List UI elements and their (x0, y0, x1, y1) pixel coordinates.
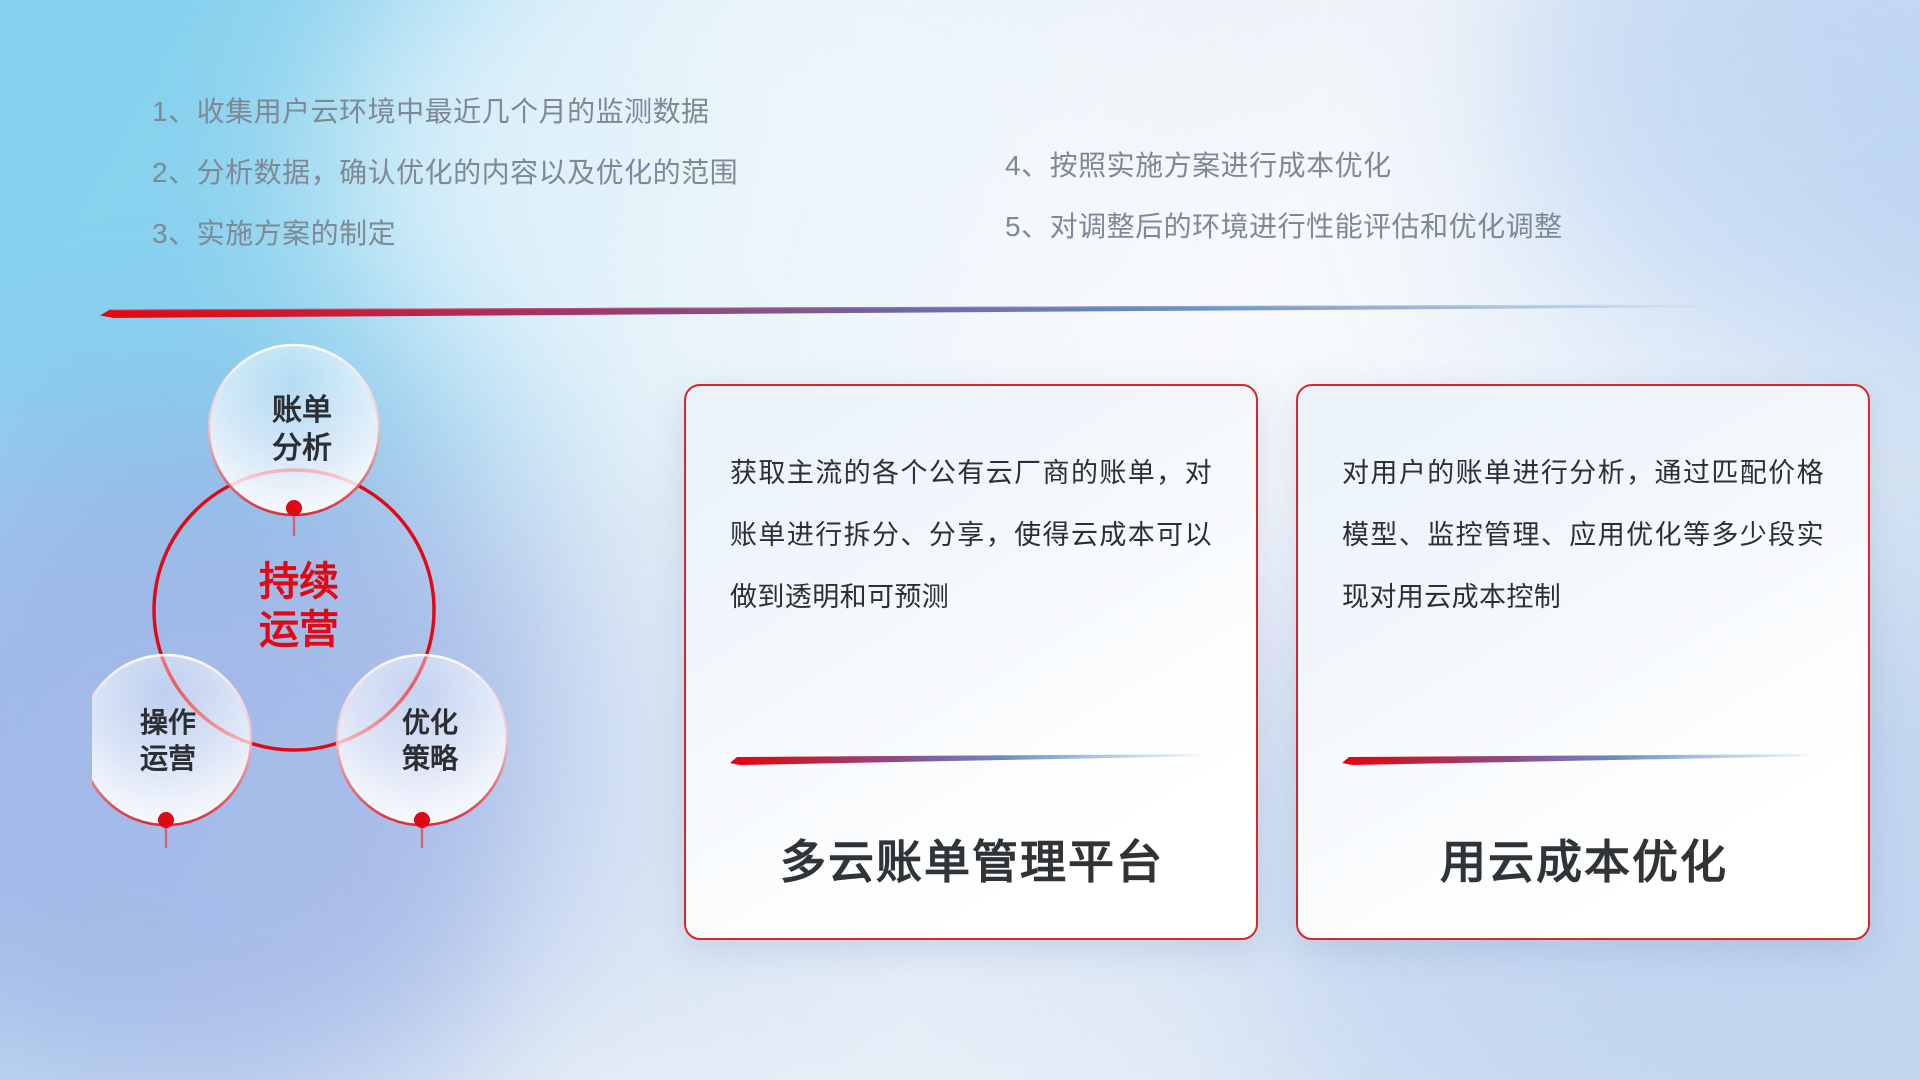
venn-node-dot-bottom-right (414, 812, 430, 828)
venn-label-top-line1: 账单 (272, 394, 332, 427)
step-item-1: 1、收集用户云环境中最近几个月的监测数据 (152, 98, 738, 126)
venn-node-dot-top (286, 500, 302, 516)
card-divider (730, 752, 1214, 764)
venn-diagram: 账单 分析 持续 运营 操作 运营 优化 策略 (92, 340, 622, 950)
card-title: 用云成本优化 (1342, 826, 1826, 892)
venn-label-bottom-left-line2: 运营 (140, 743, 196, 774)
venn-label-bottom-right-line2: 策略 (402, 742, 459, 774)
step-item-2: 2、分析数据，确认优化的内容以及优化的范围 (152, 159, 738, 187)
venn-bubble-bottom-left (92, 655, 251, 825)
step-item-3: 3、实施方案的制定 (152, 220, 738, 248)
feature-card-billing-platform[interactable]: 获取主流的各个公有云厂商的账单，对账单进行拆分、分享，使得云成本可以做到透明和可… (684, 384, 1258, 940)
venn-node-dot-bottom-left (158, 812, 174, 828)
venn-bubble-bottom-right (337, 655, 507, 825)
card-body-text: 获取主流的各个公有云厂商的账单，对账单进行拆分、分享，使得云成本可以做到透明和可… (730, 442, 1212, 628)
step-item-4: 4、按照实施方案进行成本优化 (1005, 152, 1563, 180)
card-body-text: 对用户的账单进行分析，通过匹配价格模型、监控管理、应用优化等多少段实现对用云成本… (1342, 442, 1824, 628)
steps-right-column: 4、按照实施方案进行成本优化 5、对调整后的环境进行性能评估和优化调整 (1005, 152, 1563, 274)
slide-canvas: 1、收集用户云环境中最近几个月的监测数据 2、分析数据，确认优化的内容以及优化的… (0, 0, 1920, 1080)
steps-left-column: 1、收集用户云环境中最近几个月的监测数据 2、分析数据，确认优化的内容以及优化的… (152, 98, 738, 281)
venn-label-top-line2: 分析 (272, 432, 332, 465)
card-divider (1342, 752, 1826, 764)
venn-label-bottom-right-line1: 优化 (402, 707, 458, 738)
venn-label-bottom-left-line1: 操作 (140, 707, 196, 738)
venn-label-center-line1: 持续 (259, 560, 339, 604)
venn-label-center-line2: 运营 (259, 608, 339, 652)
venn-bubble-top (209, 345, 379, 515)
section-divider (100, 302, 1818, 318)
feature-card-cost-optimization[interactable]: 对用户的账单进行分析，通过匹配价格模型、监控管理、应用优化等多少段实现对用云成本… (1296, 384, 1870, 940)
step-item-5: 5、对调整后的环境进行性能评估和优化调整 (1005, 213, 1563, 241)
card-title: 多云账单管理平台 (730, 826, 1214, 892)
